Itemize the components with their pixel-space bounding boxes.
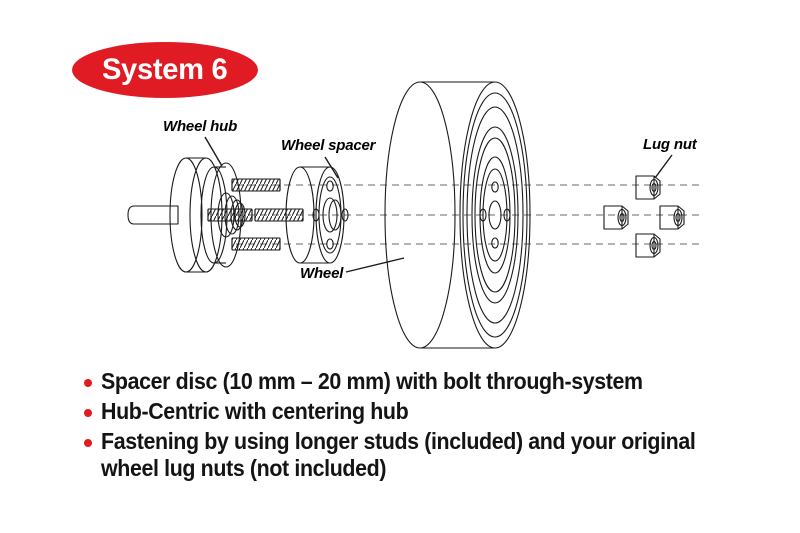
badge-label: System 6 bbox=[102, 55, 227, 85]
lug-nut bbox=[660, 206, 684, 229]
wheel-stud bbox=[232, 179, 280, 191]
callout-wheel-spacer: Wheel spacer bbox=[281, 137, 375, 154]
bullet-dot-icon bbox=[84, 439, 92, 447]
lug-nut bbox=[604, 206, 628, 229]
bullet-dot-icon bbox=[84, 379, 92, 387]
leader-lines bbox=[205, 137, 672, 272]
callout-wheel: Wheel bbox=[300, 265, 343, 282]
list-item: Spacer disc (10 mm – 20 mm) with bolt th… bbox=[84, 368, 744, 395]
lug-nut bbox=[636, 176, 660, 199]
list-item: Fastening by using longer studs (include… bbox=[84, 428, 744, 482]
page-root: System 6 bbox=[0, 0, 800, 533]
leader-lug-nut bbox=[655, 155, 672, 178]
bullet-dot-icon bbox=[84, 409, 92, 417]
feature-list: Spacer disc (10 mm – 20 mm) with bolt th… bbox=[84, 368, 744, 486]
list-item-label: Hub-Centric with centering hub bbox=[101, 398, 699, 425]
wheel-stud bbox=[208, 209, 252, 221]
list-item-label: Fastening by using longer studs (include… bbox=[101, 428, 699, 482]
wheel-stud bbox=[255, 209, 303, 221]
wheel-studs bbox=[208, 179, 303, 250]
leader-wheel-hub bbox=[205, 137, 222, 166]
list-item-label: Spacer disc (10 mm – 20 mm) with bolt th… bbox=[101, 368, 699, 395]
wheel-stud bbox=[232, 238, 280, 250]
leader-wheel bbox=[346, 258, 404, 272]
callout-lug-nut: Lug nut bbox=[643, 136, 697, 153]
lug-nut bbox=[636, 234, 660, 257]
list-item: Hub-Centric with centering hub bbox=[84, 398, 744, 425]
callout-wheel-hub: Wheel hub bbox=[163, 118, 237, 135]
